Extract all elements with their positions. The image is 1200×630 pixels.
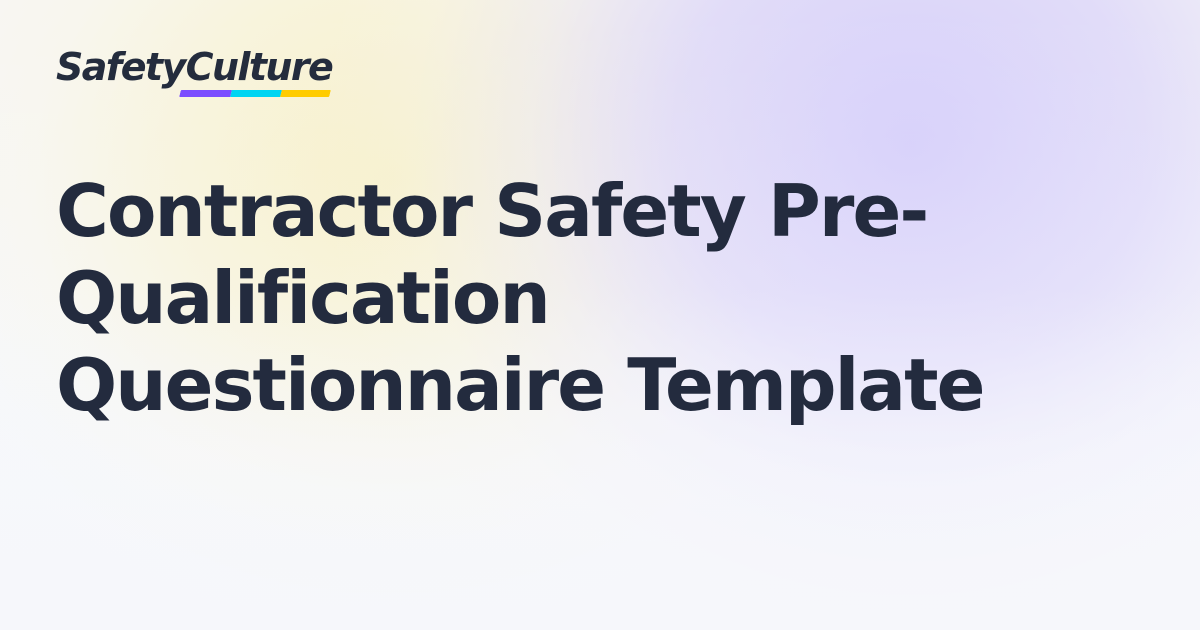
- logo-wordmark-safety: Safety: [56, 45, 185, 89]
- safetyculture-logo[interactable]: SafetyCulture: [56, 48, 332, 100]
- logo-wordmark-culture: Culture: [186, 45, 333, 89]
- logo-bar-segment-purple: [179, 90, 232, 97]
- page-title: Contractor Safety Pre-Qualification Ques…: [56, 100, 1066, 429]
- logo-bar-segment-yellow: [280, 90, 331, 97]
- logo-wordmark: SafetyCulture: [56, 48, 332, 86]
- logo-bar-segment-cyan: [230, 90, 281, 97]
- card-content: SafetyCulture Contractor Safety Pre-Qual…: [0, 0, 1200, 630]
- share-card: SafetyCulture Contractor Safety Pre-Qual…: [0, 0, 1200, 630]
- logo-underline-bar: [179, 90, 331, 97]
